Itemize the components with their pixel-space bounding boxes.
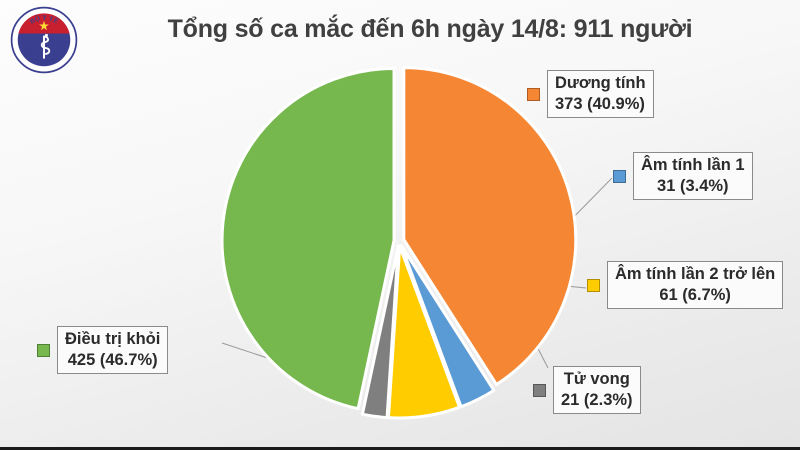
callout-value-am-tinh-lan-2: 61 (6.7%) (615, 285, 775, 306)
callout-box-tu-vong: Tử vong 21 (2.3%) (553, 366, 641, 414)
callout-duong-tinh[interactable]: Dương tính 373 (40.9%) (527, 70, 654, 118)
callout-label-tu-vong: Tử vong (561, 369, 633, 390)
slide-canvas: BỘ Y TẾ MINISTRY OF HEALTH Tổng số ca mắ… (0, 0, 800, 450)
legend-swatch-dieu-tri-khoi (37, 344, 50, 357)
legend-swatch-duong-tinh (527, 88, 540, 101)
callout-label-dieu-tri-khoi: Điều trị khỏi (65, 329, 160, 350)
pie-chart (0, 0, 800, 450)
legend-swatch-tu-vong (533, 384, 546, 397)
callout-am-tinh-lan-2[interactable]: Âm tính lần 2 trở lên 61 (6.7%) (587, 261, 783, 309)
legend-swatch-am-tinh-lan-2 (587, 279, 600, 292)
pie-slices (222, 68, 576, 418)
callout-label-am-tinh-lan-2: Âm tính lần 2 trở lên (615, 264, 775, 285)
callout-value-am-tinh-lan-1: 31 (3.4%) (641, 176, 745, 197)
callout-value-tu-vong: 21 (2.3%) (561, 390, 633, 411)
callout-box-duong-tinh: Dương tính 373 (40.9%) (547, 70, 654, 118)
pie-chart-svg (0, 0, 800, 450)
callout-am-tinh-lan-1[interactable]: Âm tính lần 1 31 (3.4%) (613, 152, 753, 200)
legend-swatch-am-tinh-lan-1 (613, 170, 626, 183)
callout-dieu-tri-khoi[interactable]: Điều trị khỏi 425 (46.7%) (37, 326, 168, 374)
callout-value-dieu-tri-khoi: 425 (46.7%) (65, 350, 160, 371)
callout-box-am-tinh-lan-2: Âm tính lần 2 trở lên 61 (6.7%) (607, 261, 783, 309)
pie-slice-dieu_tri_khoi[interactable] (222, 68, 394, 408)
callout-label-duong-tinh: Dương tính (555, 73, 646, 94)
callout-tu-vong[interactable]: Tử vong 21 (2.3%) (533, 366, 641, 414)
callout-value-duong-tinh: 373 (40.9%) (555, 94, 646, 115)
callout-label-am-tinh-lan-1: Âm tính lần 1 (641, 155, 745, 176)
callout-box-dieu-tri-khoi: Điều trị khỏi 425 (46.7%) (57, 326, 168, 374)
callout-box-am-tinh-lan-1: Âm tính lần 1 31 (3.4%) (633, 152, 753, 200)
